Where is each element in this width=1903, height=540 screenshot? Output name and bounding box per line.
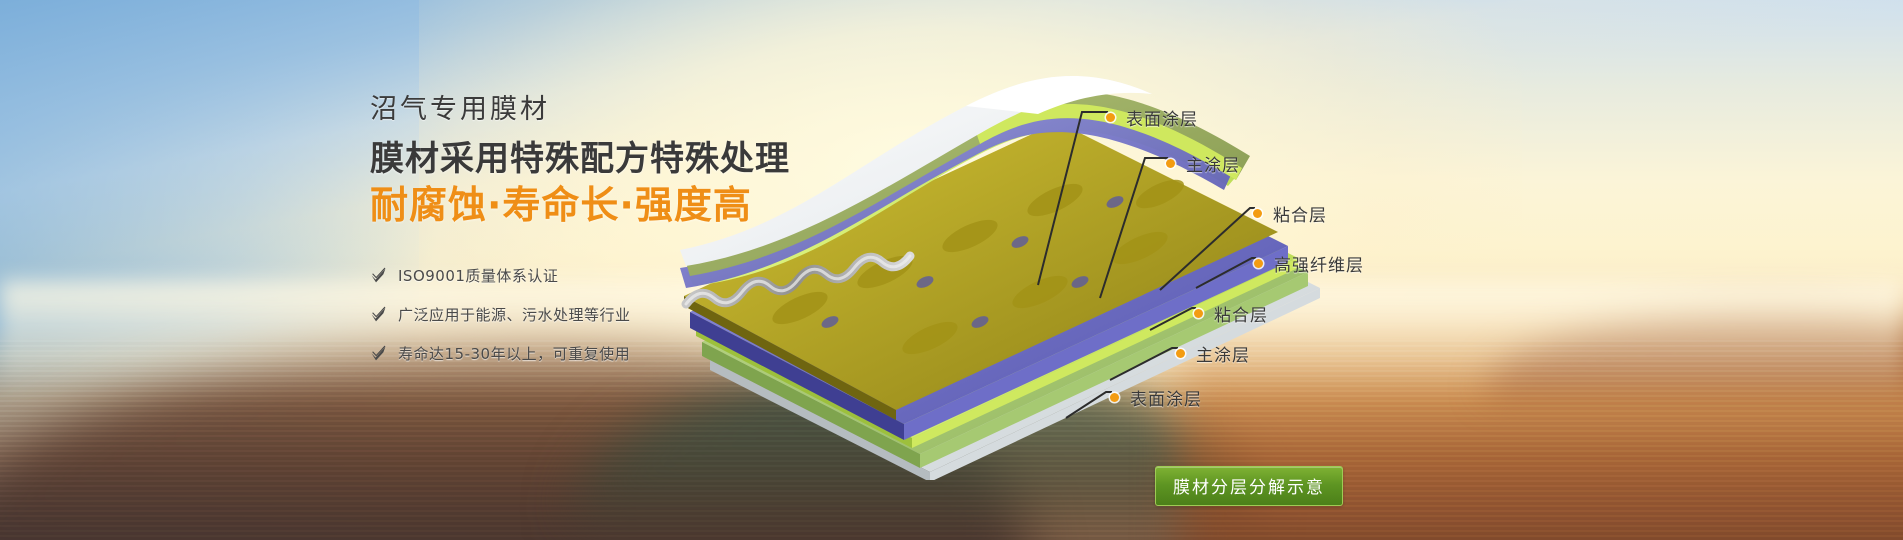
leader-line-4 — [1196, 258, 1256, 288]
callout-2: 主涂层 — [1166, 151, 1240, 176]
callout-dot-icon — [1253, 209, 1262, 218]
leader-line-5 — [1150, 308, 1196, 330]
callout-label: 粘合层 — [1273, 201, 1327, 226]
callout-label: 高强纤维层 — [1274, 251, 1364, 276]
leader-line-1 — [1038, 112, 1108, 285]
callout-dot-icon — [1176, 349, 1185, 358]
callout-6: 主涂层 — [1176, 341, 1250, 366]
feature-label: 广泛应用于能源、污水处理等行业 — [398, 304, 631, 325]
callout-label: 粘合层 — [1214, 301, 1268, 326]
callout-dot-icon — [1194, 309, 1203, 318]
leader-line-7 — [1066, 392, 1112, 418]
callout-dot-icon — [1166, 159, 1175, 168]
check-tick-icon — [370, 345, 387, 362]
callout-dot-icon — [1254, 259, 1263, 268]
callout-3: 粘合层 — [1253, 201, 1327, 226]
callout-dot-icon — [1110, 393, 1119, 402]
callout-group: 表面涂层 主涂层 粘合层 高强纤维层 粘合层 主涂层 表面涂层 — [1000, 80, 1420, 480]
leader-line-6 — [1110, 348, 1178, 380]
callout-label: 主涂层 — [1196, 341, 1250, 366]
check-tick-icon — [370, 267, 387, 284]
leader-line-3 — [1160, 208, 1255, 290]
feature-label: 寿命达15-30年以上，可重复使用 — [398, 343, 630, 364]
callout-label: 主涂层 — [1186, 151, 1240, 176]
diagram-caption-badge: 膜材分层分解示意 — [1155, 466, 1343, 506]
check-tick-icon — [370, 306, 387, 323]
callout-4: 高强纤维层 — [1254, 251, 1364, 276]
callout-leader-lines — [1000, 80, 1420, 480]
callout-5: 粘合层 — [1194, 301, 1268, 326]
callout-label: 表面涂层 — [1130, 385, 1202, 410]
feature-label: ISO9001质量体系认证 — [398, 265, 558, 286]
callout-label: 表面涂层 — [1126, 105, 1198, 130]
callout-1: 表面涂层 — [1106, 105, 1198, 130]
callout-dot-icon — [1106, 113, 1115, 122]
callout-7: 表面涂层 — [1110, 385, 1202, 410]
promo-banner: 沼气专用膜材 膜材采用特殊配方特殊处理 耐腐蚀·寿命长·强度高 ISO9001质… — [0, 0, 1903, 540]
leader-line-2 — [1100, 158, 1168, 298]
